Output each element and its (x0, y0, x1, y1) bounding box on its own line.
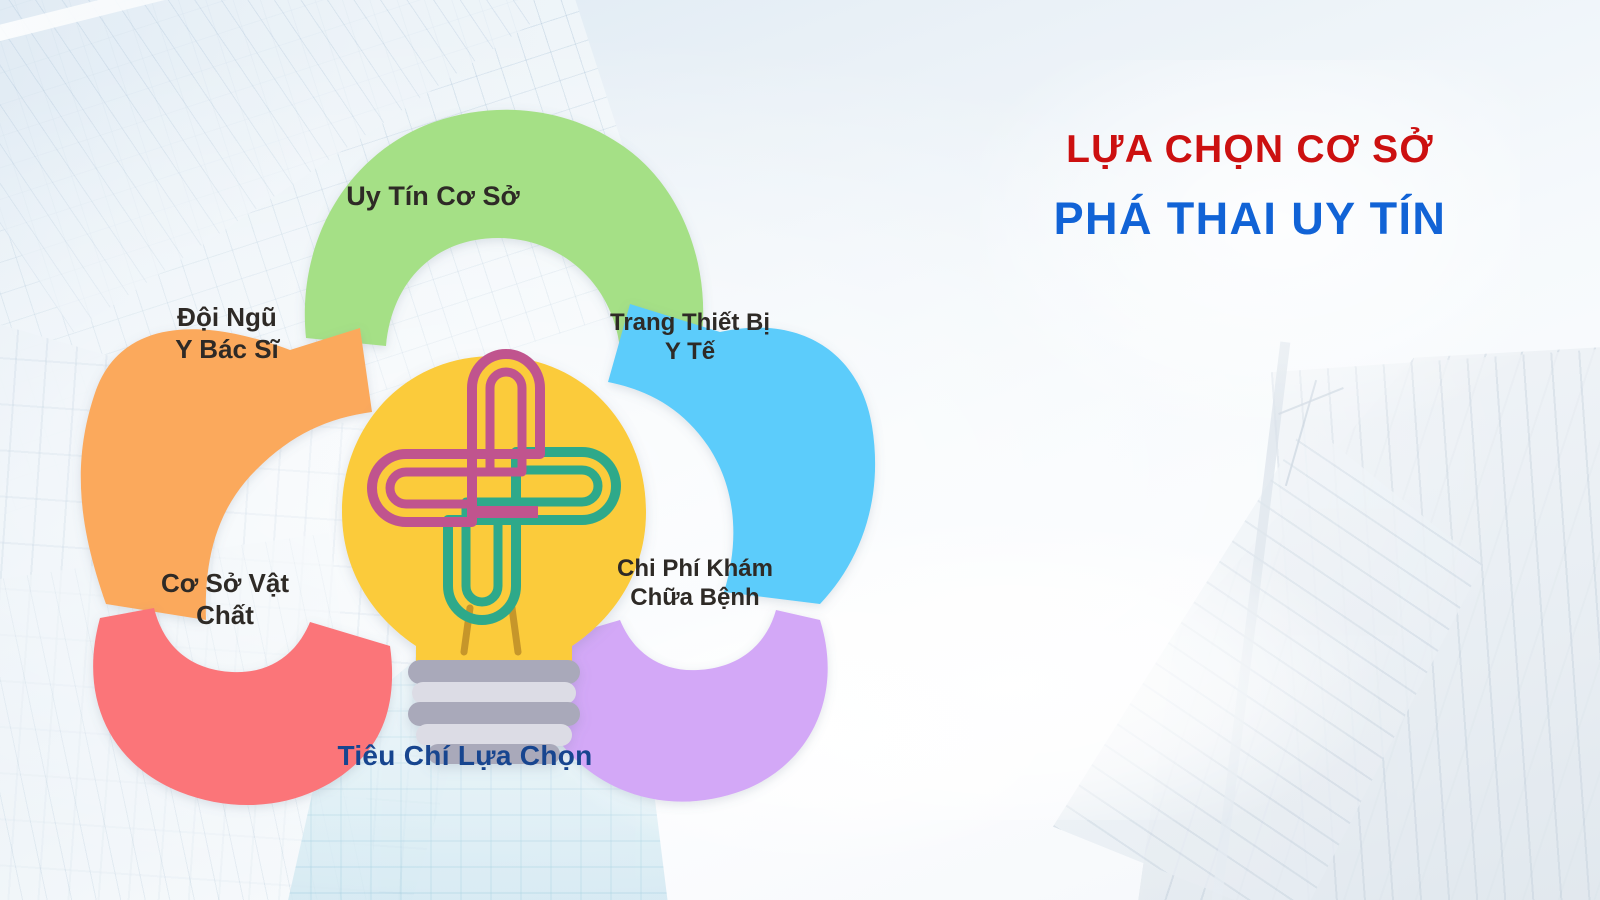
headline-block: LỰA CHỌN CƠ SỞ PHÁ THAI UY TÍN (960, 128, 1540, 244)
headline-line-1: LỰA CHỌN CƠ SỞ (960, 128, 1540, 172)
criteria-petal-diagram: Uy Tín Cơ Sở Đội Ngũ Y Bác Sĩ Cơ Sở Vật … (60, 60, 920, 820)
petal-diagram-svg (60, 60, 920, 820)
bulb-base-band-3 (408, 702, 580, 726)
bulb-base-band-1 (408, 660, 580, 684)
petal-doi-ngu-y-bac-si[interactable] (81, 328, 372, 620)
bulb-base-band-2 (412, 682, 576, 704)
petal-trang-thiet-bi-y-te[interactable] (608, 304, 875, 604)
diagram-caption: Tiêu Chí Lựa Chọn (300, 740, 630, 772)
headline-line-2: PHÁ THAI UY TÍN (960, 194, 1540, 244)
petal-co-so-vat-chat[interactable] (93, 608, 392, 805)
